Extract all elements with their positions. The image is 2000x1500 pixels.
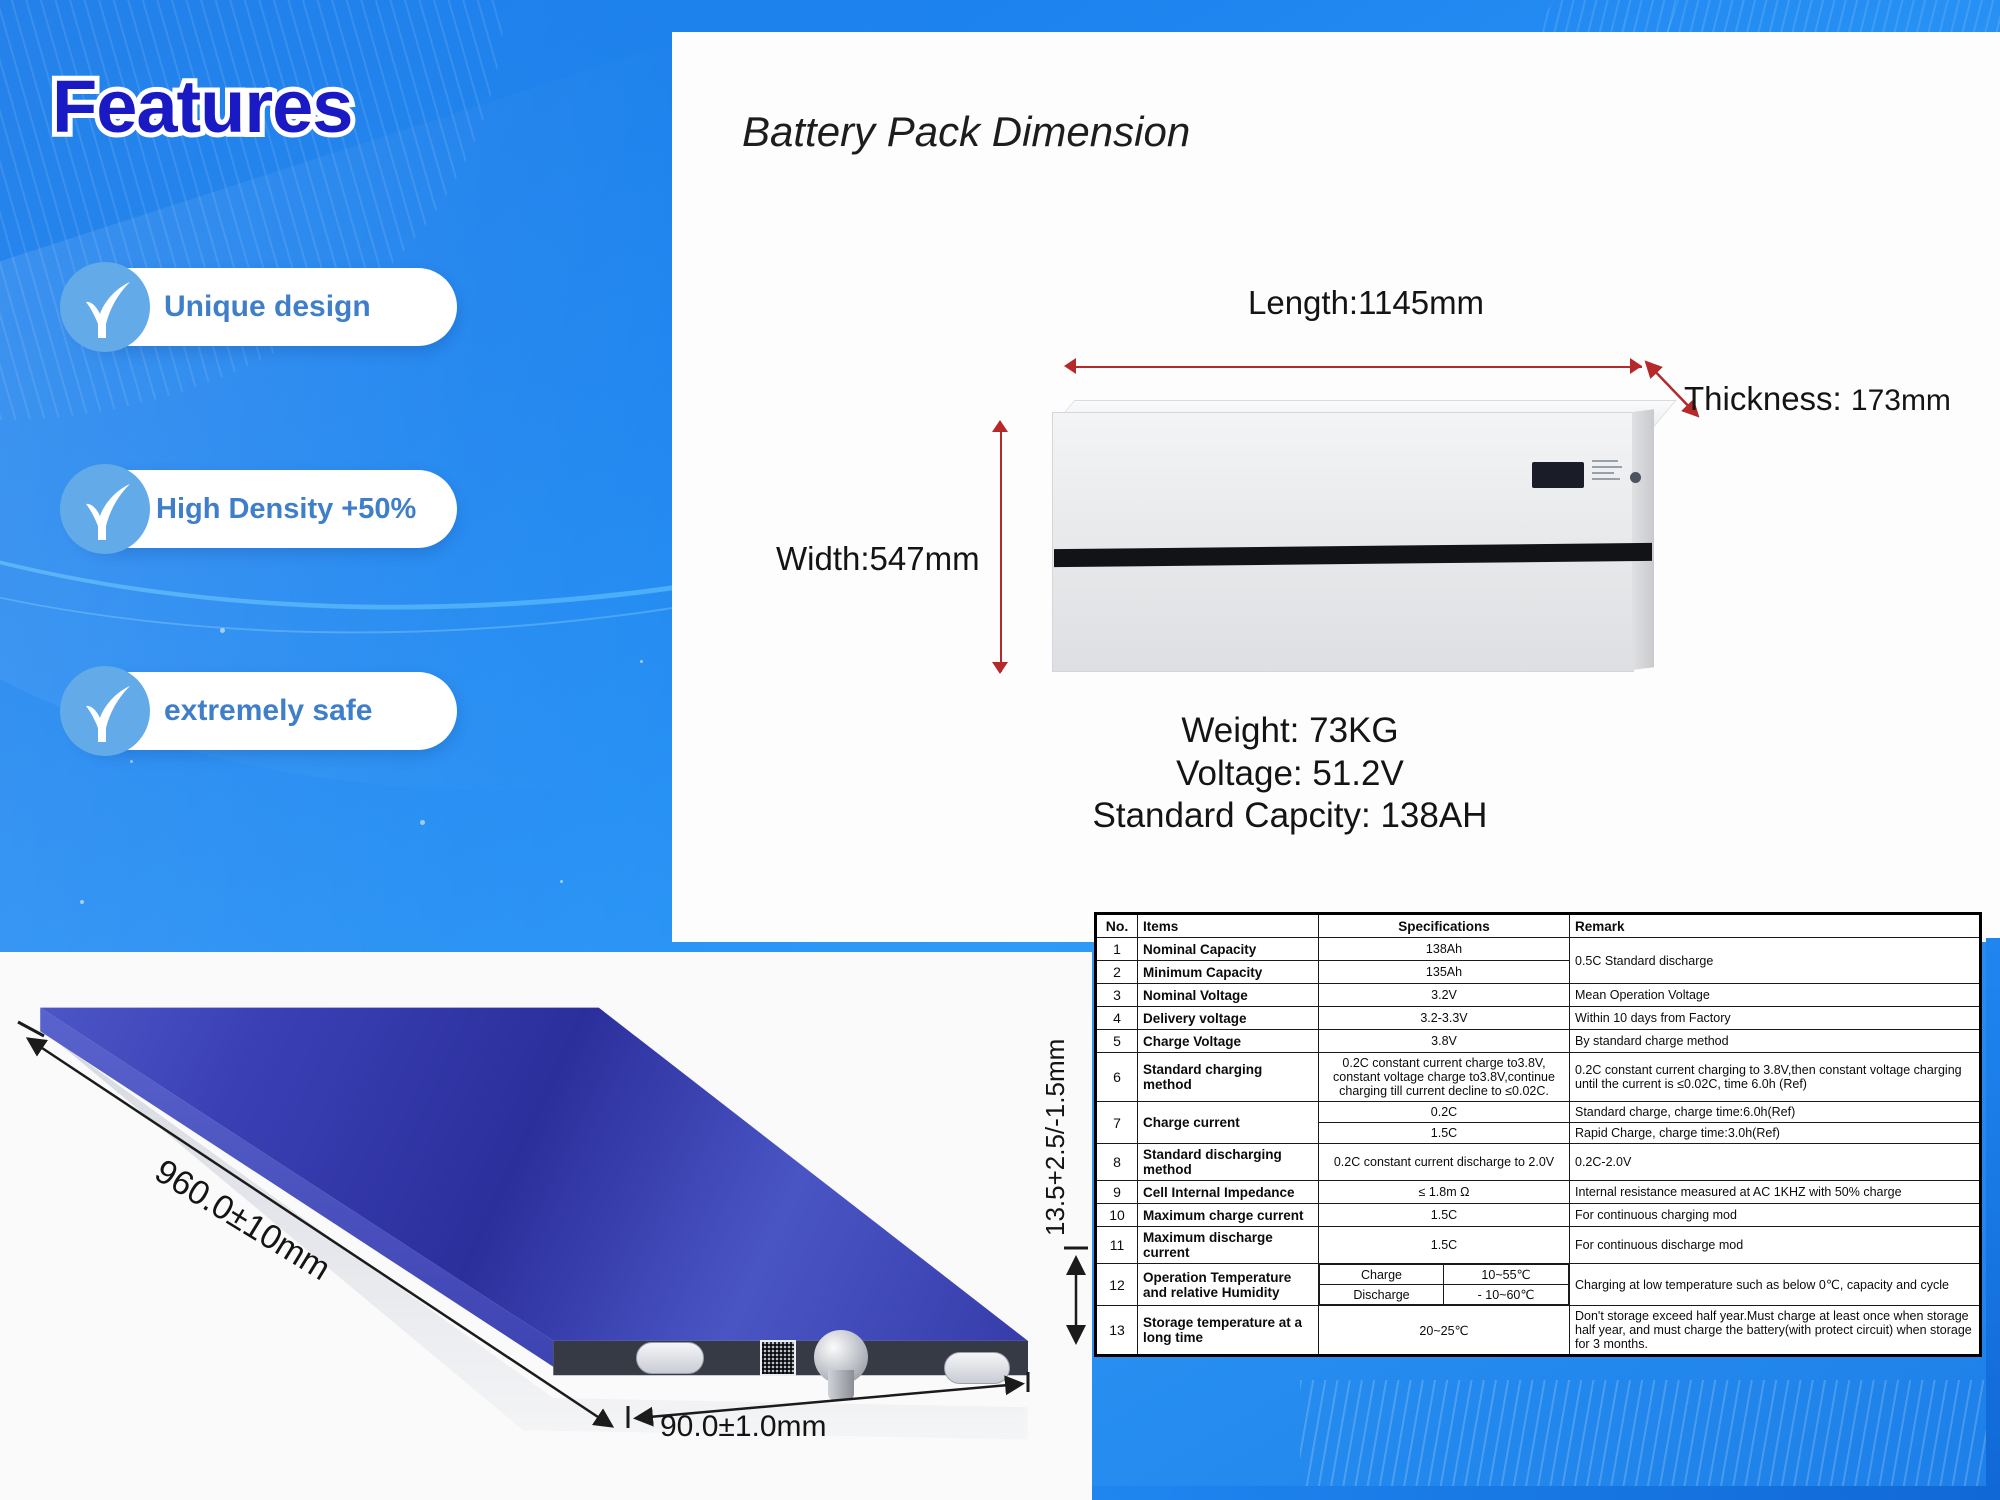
cell-remark: 0.2C constant current charging to 3.8V,t… [1570,1053,1981,1102]
feature-pill-label: extremely safe [164,694,372,728]
sparkle-dot [420,820,425,825]
cell-spec: 1.5C [1319,1227,1570,1264]
cell-remark: 0.2C-2.0V [1570,1144,1981,1181]
cell-spec: 3.2V [1319,984,1570,1007]
battery-pack-image [1052,400,1652,670]
width-arrow-head-top [992,420,1008,432]
table-row: 13 Storage temperature at a long time 20… [1096,1306,1981,1356]
cell-remark: Standard charge, charge time:6.0h(Ref) [1570,1102,1981,1123]
cell-remark: Rapid Charge, charge time:3.0h(Ref) [1570,1123,1981,1144]
cell-item: Storage temperature at a long time [1138,1306,1319,1356]
table-header-row: No. Items Specifications Remark [1096,914,1981,938]
feature-pill-label: High Density +50% [156,493,416,526]
table-row: 9 Cell Internal Impedance ≤ 1.8m Ω Inter… [1096,1181,1981,1204]
charge-label: Charge [1320,1265,1444,1285]
width-label: Width:547mm [776,540,980,578]
cell-spec: 1.5C [1319,1123,1570,1144]
cell-spec: 138Ah [1319,938,1570,961]
pack-front-face [1052,412,1634,672]
table-row: 3 Nominal Voltage 3.2V Mean Operation Vo… [1096,984,1981,1007]
cell-item: Minimum Capacity [1138,961,1319,984]
cell-item: Charge Voltage [1138,1030,1319,1053]
sparkle-dot [640,660,643,663]
table-row: 5 Charge Voltage 3.8V By standard charge… [1096,1030,1981,1053]
cell-no: 1 [1096,938,1138,961]
pack-summary: Weight: 73KG Voltage: 51.2V Standard Cap… [1000,710,1580,838]
cell-remark: Charging at low temperature such as belo… [1570,1264,1981,1306]
thickness-label: Thickness: [1684,380,1842,417]
table-row: 11 Maximum discharge current 1.5C For co… [1096,1227,1981,1264]
cell-spec-temperature: Charge 10~55℃ Discharge - 10~60℃ [1319,1264,1570,1306]
cell-item: Maximum charge current [1138,1204,1319,1227]
bottom-blue-border [1092,1486,2000,1500]
feature-pill-high-density[interactable]: High Density +50% [72,470,457,548]
cell-item: Cell Internal Impedance [1138,1181,1319,1204]
pack-side-face [1632,409,1654,670]
length-arrow-head-left [1064,358,1076,374]
table-row: 4 Delivery voltage 3.2-3.3V Within 10 da… [1096,1007,1981,1030]
column-header-specifications: Specifications [1319,914,1570,938]
table-row: 6 Standard charging method 0.2C constant… [1096,1053,1981,1102]
cell-spec: 0.2C constant current discharge to 2.0V [1319,1144,1570,1181]
feature-pill-extremely-safe[interactable]: extremely safe [72,672,457,750]
cell-no: 3 [1096,984,1138,1007]
cell-item: Charge current [1138,1102,1319,1144]
cell-spec: 0.2C constant current charge to3.8V, con… [1319,1053,1570,1102]
cell-no: 13 [1096,1306,1138,1356]
table-row: 12 Operation Temperature and relative Hu… [1096,1264,1981,1306]
table-row: 7 Charge current 0.2C Standard charge, c… [1096,1102,1981,1123]
check-leaf-icon [60,666,150,756]
cell-thickness-label: 13.5+2.5/-1.5mm [1040,1039,1071,1236]
cell-no: 5 [1096,1030,1138,1053]
cell-remark: For continuous charging mod [1570,1204,1981,1227]
cell-spec: 3.2-3.3V [1319,1007,1570,1030]
width-dimension-arrow [1000,432,1002,672]
cell-item: Maximum discharge current [1138,1227,1319,1264]
page-title: Features [52,64,352,149]
column-header-items: Items [1138,914,1319,938]
pack-voltage: Voltage: 51.2V [1000,753,1580,796]
pack-display-icon [1532,462,1584,488]
cell-no: 8 [1096,1144,1138,1181]
check-leaf-icon [60,464,150,554]
cell-spec: 20~25℃ [1319,1306,1570,1356]
cell-spec: 135Ah [1319,961,1570,984]
cell-no: 10 [1096,1204,1138,1227]
sparkle-dot [130,760,133,763]
cell-no: 12 [1096,1264,1138,1306]
cell-item: Nominal Capacity [1138,938,1319,961]
pack-capacity: Standard Capcity: 138AH [1000,795,1580,838]
cell-spec: 0.2C [1319,1102,1570,1123]
cell-no: 11 [1096,1227,1138,1264]
charge-value: 10~55℃ [1444,1265,1569,1285]
cell-item: Standard charging method [1138,1053,1319,1102]
table-row: 10 Maximum charge current 1.5C For conti… [1096,1204,1981,1227]
cell-no: 6 [1096,1053,1138,1102]
table-row: 1 Nominal Capacity 138Ah 0.5C Standard d… [1096,938,1981,961]
cell-remark: Don't storage exceed half year.Must char… [1570,1306,1981,1356]
temperature-discharge-row: Discharge - 10~60℃ [1320,1285,1569,1305]
sparkle-dot [80,900,84,904]
width-arrow-head-bottom [992,662,1008,674]
cell-remark: Mean Operation Voltage [1570,984,1981,1007]
cell-item: Delivery voltage [1138,1007,1319,1030]
column-header-remark: Remark [1570,914,1981,938]
cell-width-label: 90.0±1.0mm [660,1410,827,1444]
check-leaf-icon [60,262,150,352]
cell-item: Nominal Voltage [1138,984,1319,1007]
pack-indicator-labels [1592,460,1634,490]
cell-no: 4 [1096,1007,1138,1030]
thickness-label-group: Thickness: 173mm [1684,380,1951,418]
sparkle-dot [560,880,563,883]
length-label: Length:1145mm [1248,284,1484,322]
cell-item: Operation Temperature and relative Humid… [1138,1264,1319,1306]
cell-no: 2 [1096,961,1138,984]
cell-remark: For continuous discharge mod [1570,1227,1981,1264]
length-dimension-arrow [1072,366,1642,368]
pack-weight: Weight: 73KG [1000,710,1580,753]
temperature-charge-row: Charge 10~55℃ [1320,1265,1569,1285]
cell-spec: 3.8V [1319,1030,1570,1053]
sparkle-dot [220,628,225,633]
cell-length-arrow [10,1010,630,1440]
right-blue-border [1986,938,2000,1500]
cell-thickness-arrow [1056,1240,1096,1360]
cell-no: 7 [1096,1102,1138,1144]
cell-remark: Internal resistance measured at AC 1KHZ … [1570,1181,1981,1204]
background-rays-bottom [1300,1380,2000,1500]
panel-title: Battery Pack Dimension [742,108,1190,156]
column-header-no: No. [1096,914,1138,938]
feature-pill-unique-design[interactable]: Unique design [72,268,457,346]
cell-remark: Within 10 days from Factory [1570,1007,1981,1030]
thickness-value: 173mm [1851,384,1951,417]
cell-remark: By standard charge method [1570,1030,1981,1053]
cell-spec: 1.5C [1319,1204,1570,1227]
cell-no: 9 [1096,1181,1138,1204]
cell-item: Standard discharging method [1138,1144,1319,1181]
discharge-label: Discharge [1320,1285,1444,1305]
pack-button-icon [1630,472,1641,483]
feature-pill-label: Unique design [164,290,371,324]
discharge-value: - 10~60℃ [1444,1285,1569,1305]
cell-remark: 0.5C Standard discharge [1570,938,1981,984]
specification-table: No. Items Specifications Remark 1 Nomina… [1094,912,1982,1357]
temperature-subtable: Charge 10~55℃ Discharge - 10~60℃ [1319,1264,1569,1305]
table-row: 8 Standard discharging method 0.2C const… [1096,1144,1981,1181]
cell-spec: ≤ 1.8m Ω [1319,1181,1570,1204]
